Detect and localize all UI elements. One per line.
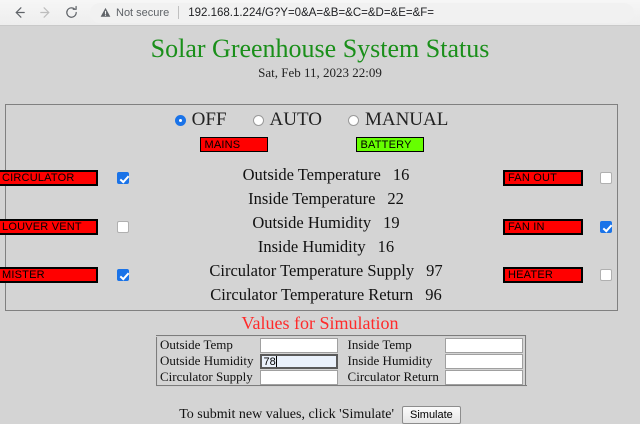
reading-label: Circulator Temperature Supply [209,261,414,280]
forward-button[interactable] [32,2,58,24]
mode-option-off[interactable]: OFF [175,109,227,131]
mode-radio-group: OFF AUTO MANUAL [6,105,617,131]
sim-cell-outside-humidity: 78 [258,353,340,369]
page-datetime: Sat, Feb 11, 2023 22:09 [0,65,640,81]
device-checkbox-circulator[interactable] [117,172,129,184]
table-row: Circulator Supply Circulator Return [157,369,526,386]
security-status-label: Not secure [116,7,169,19]
reading-value: 19 [383,213,400,232]
sim-cell-circulator-supply [258,369,340,386]
simulate-button[interactable]: Simulate [402,406,461,424]
page-title: Solar Greenhouse System Status [0,26,640,64]
sim-label-circulator-return: Circulator Return [340,369,443,386]
mode-option-manual[interactable]: MANUAL [348,109,448,131]
reading-label: Outside Humidity [252,213,371,232]
submit-hint-text: To submit new values, click 'Simulate' [179,407,394,423]
table-row: Outside Temp Inside Temp [157,336,526,353]
sim-label-inside-humidity: Inside Humidity [340,353,443,369]
sim-input-circulator-return[interactable] [445,370,523,385]
reading-circulator-return: Circulator Temperature Return96 [166,285,486,305]
mode-label-off: OFF [192,109,227,131]
device-row-fan-in: FAN IN [503,219,612,235]
sim-input-outside-temp[interactable] [260,338,338,353]
device-label-mister: MISTER [0,267,98,283]
address-bar[interactable]: Not secure 192.168.1.224/G?Y=0&A=&B=&C=&… [90,3,634,23]
device-row-fan-out: FAN OUT [503,170,612,186]
device-label-heater: HEATER [503,267,583,283]
sim-cell-inside-temp [443,336,526,353]
simulation-heading: Values for Simulation [0,313,640,334]
reading-outside-humidity: Outside Humidity19 [166,213,486,233]
page-content: Solar Greenhouse System Status Sat, Feb … [0,26,640,415]
arrow-right-icon [38,5,53,20]
power-source-row: MAINS BATTERY [6,137,617,152]
device-checkbox-fan-in[interactable] [600,221,612,233]
reading-outside-temperature: Outside Temperature16 [166,165,486,185]
sim-label-inside-temp: Inside Temp [340,336,443,353]
reading-value: 16 [378,237,395,256]
readings-grid: Outside Temperature16 Inside Temperature… [6,165,617,311]
reading-inside-temperature: Inside Temperature22 [166,189,486,209]
device-label-louver-vent: LOUVER VENT [0,219,98,235]
device-checkbox-heater[interactable] [600,269,612,281]
sim-input-value: 78 [264,356,276,368]
device-checkbox-louver-vent[interactable] [117,221,129,233]
sim-label-outside-temp: Outside Temp [157,336,258,353]
reload-icon [64,5,79,20]
device-row-louver-vent: LOUVER VENT [0,219,129,235]
sim-input-outside-humidity[interactable]: 78 [260,354,338,369]
sim-input-circulator-supply[interactable] [260,370,338,385]
reading-value: 22 [387,189,404,208]
mode-label-manual: MANUAL [365,109,448,131]
browser-toolbar: Not secure 192.168.1.224/G?Y=0&A=&B=&C=&… [0,0,640,26]
back-button[interactable] [6,2,32,24]
reading-label: Inside Humidity [258,237,366,256]
device-row-heater: HEATER [503,267,612,283]
reading-circulator-supply: Circulator Temperature Supply97 [166,261,486,281]
simulation-table: Outside Temp Inside Temp Outside Humidit… [156,335,527,387]
reading-label: Circulator Temperature Return [210,285,413,304]
sim-input-inside-humidity[interactable] [445,354,523,369]
badge-mains: MAINS [200,137,268,152]
warning-triangle-icon [100,7,111,18]
device-checkbox-fan-out[interactable] [600,172,612,184]
sim-label-circulator-supply: Circulator Supply [157,369,258,386]
arrow-left-icon [12,5,27,20]
radio-auto-icon[interactable] [253,115,264,126]
reading-inside-humidity: Inside Humidity16 [166,237,486,257]
url-text: 192.168.1.224/G?Y=0&A=&B=&C=&D=&E=&F= [188,7,434,19]
reload-button[interactable] [58,2,84,24]
sim-cell-circulator-return [443,369,526,386]
text-caret [276,356,277,367]
mode-option-auto[interactable]: AUTO [253,109,322,131]
radio-manual-icon[interactable] [348,115,359,126]
device-label-fan-in: FAN IN [503,219,583,235]
sim-cell-inside-humidity [443,353,526,369]
radio-off-icon[interactable] [175,115,186,126]
badge-battery: BATTERY [356,137,424,152]
sim-input-inside-temp[interactable] [445,338,523,353]
reading-label: Inside Temperature [248,189,375,208]
device-label-circulator: CIRCULATOR [0,170,98,186]
reading-label: Outside Temperature [243,165,381,184]
table-row: Outside Humidity 78 Inside Humidity [157,353,526,369]
submit-row: To submit new values, click 'Simulate' S… [0,406,640,424]
reading-value: 96 [425,285,442,304]
reading-value: 97 [426,261,443,280]
device-row-circulator: CIRCULATOR [0,170,129,186]
sim-cell-outside-temp [258,336,340,353]
mode-label-auto: AUTO [270,109,322,131]
device-checkbox-mister[interactable] [117,269,129,281]
device-row-mister: MISTER [0,267,129,283]
reading-value: 16 [393,165,410,184]
sim-label-outside-humidity: Outside Humidity [157,353,258,369]
omnibox-divider [178,6,179,19]
device-label-fan-out: FAN OUT [503,170,583,186]
